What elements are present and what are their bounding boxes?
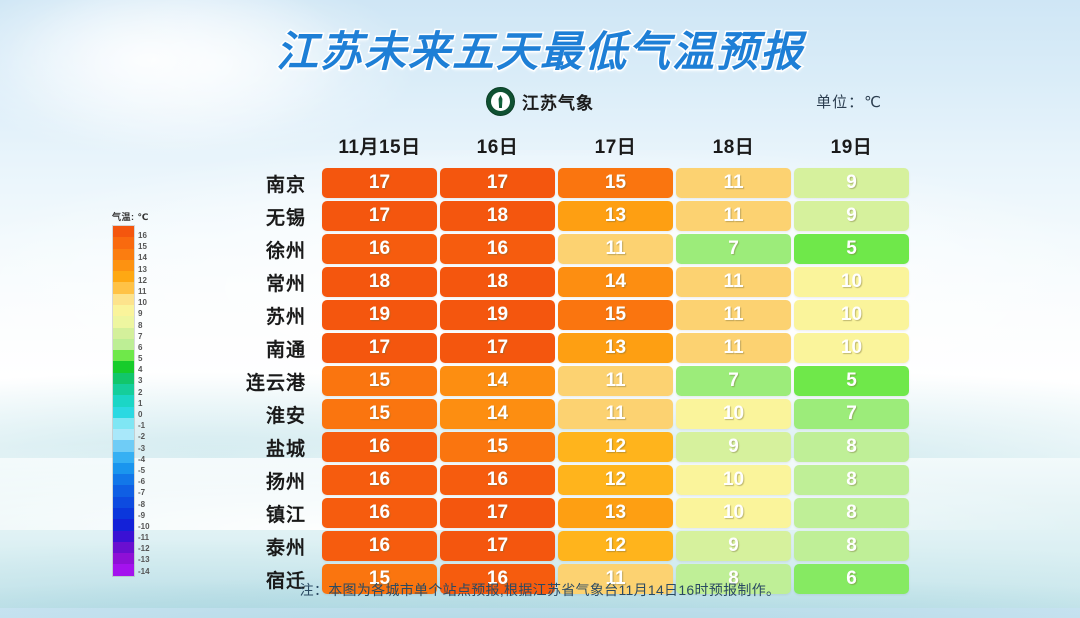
forecast-table: 11月15日16日17日18日19日 南京171715119无锡17181311… (190, 129, 912, 597)
temperature-cell: 14 (440, 366, 555, 396)
temperature-cell: 5 (794, 366, 909, 396)
legend-tick-label: -9 (138, 510, 150, 521)
legend-swatch (113, 339, 134, 350)
temperature-cell: 16 (440, 234, 555, 264)
temperature-cell: 12 (558, 465, 673, 495)
table-row: 连云港15141175 (193, 366, 909, 396)
legend-tick-label: -14 (138, 566, 150, 577)
temperature-cell: 7 (676, 234, 791, 264)
legend-swatch (113, 271, 134, 282)
temperature-cell: 10 (794, 333, 909, 363)
temperature-cell: 10 (676, 399, 791, 429)
legend-swatch (113, 384, 134, 395)
legend-swatch (113, 361, 134, 372)
brand: 江苏气象 (486, 87, 594, 116)
temperature-cell: 17 (440, 168, 555, 198)
temperature-cell: 13 (558, 498, 673, 528)
temperature-cell: 8 (794, 498, 909, 528)
table-row: 常州1818141110 (193, 267, 909, 297)
temperature-cell: 11 (676, 333, 791, 363)
legend-tick-label: -10 (138, 521, 150, 532)
legend-swatch (113, 519, 134, 530)
city-name-cell: 南京 (193, 168, 319, 198)
legend-swatch (113, 395, 134, 406)
temperature-cell: 11 (676, 201, 791, 231)
legend-tick-label: -5 (138, 465, 150, 476)
table-row: 苏州1919151110 (193, 300, 909, 330)
legend-tick-label: 0 (138, 409, 150, 420)
date-column-header: 18日 (676, 132, 791, 165)
legend-swatch (113, 508, 134, 519)
legend-tick-label: 3 (138, 375, 150, 386)
legend-tick-label: 6 (138, 342, 150, 353)
temperature-cell: 11 (558, 366, 673, 396)
temperature-cell: 16 (322, 531, 437, 561)
legend-tick-label: -8 (138, 499, 150, 510)
temperature-cell: 7 (676, 366, 791, 396)
legend-swatch (113, 294, 134, 305)
legend-swatch (113, 282, 134, 293)
legend-colorbar (112, 225, 135, 577)
temperature-cell: 8 (794, 531, 909, 561)
city-name-cell: 徐州 (193, 234, 319, 264)
legend-swatch (113, 485, 134, 496)
date-column-header: 11月15日 (322, 132, 437, 165)
temperature-cell: 11 (676, 267, 791, 297)
legend-tick-label: -12 (138, 543, 150, 554)
city-name-cell: 镇江 (193, 498, 319, 528)
legend-tick-label: 2 (138, 387, 150, 398)
temperature-cell: 18 (440, 267, 555, 297)
city-column-header (193, 132, 319, 165)
legend-swatch (113, 542, 134, 553)
legend-swatch (113, 553, 134, 564)
temperature-cell: 17 (440, 333, 555, 363)
temperature-cell: 17 (322, 168, 437, 198)
temperature-cell: 17 (440, 531, 555, 561)
temperature-cell: 15 (558, 168, 673, 198)
temperature-cell: 15 (558, 300, 673, 330)
city-name-cell: 苏州 (193, 300, 319, 330)
torch-emblem-icon (486, 87, 515, 116)
legend-swatch (113, 316, 134, 327)
legend-swatch (113, 328, 134, 339)
legend-swatch (113, 373, 134, 384)
city-name-cell: 无锡 (193, 201, 319, 231)
legend-swatch (113, 497, 134, 508)
legend-tick-label: -4 (138, 454, 150, 465)
temperature-cell: 9 (676, 432, 791, 462)
temperature-cell: 11 (558, 399, 673, 429)
legend-tick-label: 12 (138, 275, 150, 286)
header: 江苏未来五天最低气温预报 江苏气象 单位：℃ (0, 0, 1080, 125)
table-header-row: 11月15日16日17日18日19日 (193, 132, 909, 165)
temperature-cell: 11 (676, 300, 791, 330)
temperature-cell: 5 (794, 234, 909, 264)
legend-swatch (113, 474, 134, 485)
temperature-cell: 19 (322, 300, 437, 330)
legend-tick-label: 13 (138, 264, 150, 275)
city-name-cell: 常州 (193, 267, 319, 297)
temperature-legend: 气温: ℃ 161514131211109876543210-1-2-3-4-5… (112, 210, 172, 577)
temperature-cell: 16 (322, 234, 437, 264)
legend-swatch (113, 350, 134, 361)
temperature-cell: 10 (676, 465, 791, 495)
unit-label: 单位：℃ (816, 91, 882, 112)
temperature-cell: 13 (558, 333, 673, 363)
brand-name: 江苏气象 (522, 89, 594, 114)
legend-tick-label: 16 (138, 230, 150, 241)
temperature-cell: 10 (676, 498, 791, 528)
legend-swatch (113, 226, 134, 237)
temperature-cell: 11 (676, 168, 791, 198)
legend-tick-label: 14 (138, 252, 150, 263)
legend-tick-label: -7 (138, 487, 150, 498)
temperature-cell: 17 (322, 201, 437, 231)
temperature-cell: 14 (440, 399, 555, 429)
legend-swatch (113, 260, 134, 271)
forecast-table-body: 南京171715119无锡171813119徐州16161175常州181814… (193, 168, 909, 594)
temperature-cell: 14 (558, 267, 673, 297)
temperature-cell: 11 (558, 234, 673, 264)
city-name-cell: 连云港 (193, 366, 319, 396)
page-title: 江苏未来五天最低气温预报 (0, 0, 1080, 79)
temperature-cell: 10 (794, 267, 909, 297)
legend-swatch (113, 249, 134, 260)
temperature-cell: 16 (322, 432, 437, 462)
legend-tick-label: 7 (138, 331, 150, 342)
table-row: 无锡171813119 (193, 201, 909, 231)
legend-tick-label: 9 (138, 308, 150, 319)
legend-tick-label: -3 (138, 443, 150, 454)
table-row: 盐城16151298 (193, 432, 909, 462)
legend-title: 气温: ℃ (112, 210, 172, 223)
table-row: 徐州16161175 (193, 234, 909, 264)
date-column-header: 16日 (440, 132, 555, 165)
legend-tick-label: -2 (138, 431, 150, 442)
city-name-cell: 南通 (193, 333, 319, 363)
header-subrow: 江苏气象 单位：℃ (0, 85, 1080, 125)
temperature-cell: 17 (440, 498, 555, 528)
date-column-header: 19日 (794, 132, 909, 165)
legend-tick-label: -6 (138, 476, 150, 487)
temperature-cell: 8 (794, 465, 909, 495)
temperature-cell: 7 (794, 399, 909, 429)
legend-swatch (113, 418, 134, 429)
legend-swatch (113, 440, 134, 451)
temperature-cell: 15 (322, 366, 437, 396)
temperature-cell: 12 (558, 432, 673, 462)
temperature-cell: 15 (440, 432, 555, 462)
legend-tick-label: -11 (138, 532, 150, 543)
legend-tick-label: -1 (138, 420, 150, 431)
table-row: 淮安151411107 (193, 399, 909, 429)
legend-swatch (113, 564, 134, 575)
legend-tick-label: 4 (138, 364, 150, 375)
legend-swatch (113, 407, 134, 418)
legend-tick-label: 8 (138, 320, 150, 331)
temperature-cell: 16 (322, 498, 437, 528)
legend-tick-label: 5 (138, 353, 150, 364)
legend-tick-labels: 161514131211109876543210-1-2-3-4-5-6-7-8… (138, 225, 150, 577)
legend-tick-label: -13 (138, 554, 150, 565)
legend-swatch (113, 452, 134, 463)
legend-swatch (113, 237, 134, 248)
legend-swatch (113, 305, 134, 316)
temperature-cell: 10 (794, 300, 909, 330)
footer-note: 注：本图为各城市单个站点预报,根据江苏省气象台11月14日16时预报制作。 (0, 580, 1080, 600)
legend-swatch (113, 429, 134, 440)
temperature-cell: 16 (322, 465, 437, 495)
temperature-cell: 12 (558, 531, 673, 561)
legend-swatch (113, 531, 134, 542)
temperature-cell: 18 (322, 267, 437, 297)
temperature-cell: 9 (676, 531, 791, 561)
city-name-cell: 淮安 (193, 399, 319, 429)
legend-tick-label: 10 (138, 297, 150, 308)
table-row: 南京171715119 (193, 168, 909, 198)
temperature-cell: 15 (322, 399, 437, 429)
temperature-cell: 13 (558, 201, 673, 231)
table-row: 泰州16171298 (193, 531, 909, 561)
temperature-cell: 16 (440, 465, 555, 495)
temperature-cell: 9 (794, 168, 909, 198)
temperature-cell: 9 (794, 201, 909, 231)
legend-tick-label: 15 (138, 241, 150, 252)
city-name-cell: 盐城 (193, 432, 319, 462)
temperature-cell: 19 (440, 300, 555, 330)
date-column-header: 17日 (558, 132, 673, 165)
city-name-cell: 扬州 (193, 465, 319, 495)
table-row: 扬州161612108 (193, 465, 909, 495)
city-name-cell: 泰州 (193, 531, 319, 561)
temperature-cell: 18 (440, 201, 555, 231)
temperature-cell: 17 (322, 333, 437, 363)
legend-tick-label: 1 (138, 398, 150, 409)
legend-tick-label: 11 (138, 286, 150, 297)
table-row: 南通1717131110 (193, 333, 909, 363)
table-row: 镇江161713108 (193, 498, 909, 528)
legend-swatch (113, 463, 134, 474)
temperature-cell: 8 (794, 432, 909, 462)
